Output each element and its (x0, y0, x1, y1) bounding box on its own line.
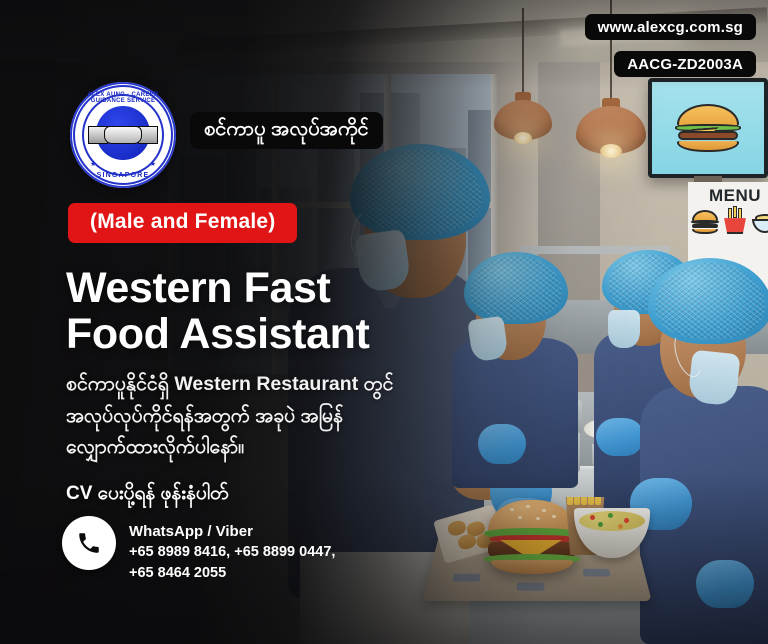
contact-numbers-line-2: +65 8464 2055 (129, 563, 335, 584)
contact-block[interactable]: WhatsApp / Viber +65 8989 8416, +65 8899… (62, 516, 335, 583)
page-title: Western Fast Food Assistant (66, 265, 369, 358)
description-line-1: စင်ကာပူနိုင်ငံရှိ Western Restaurant တွင… (66, 369, 393, 401)
logo-text-top: ALEX AUNG · CAREER GUIDANCE SERVICE (70, 92, 176, 104)
description-burmese: စင်ကာပူနိုင်ငံရှိ Western Restaurant တွင… (66, 369, 393, 464)
company-logo: ALEX AUNG · CAREER GUIDANCE SERVICE ★ ★ … (70, 82, 176, 188)
header-burmese-badge: စင်ကာပူ အလုပ်အကိုင် (190, 112, 383, 149)
website-badge[interactable]: www.alexcg.com.sg (585, 14, 756, 40)
contact-numbers-line-1: +65 8989 8416, +65 8899 0447, (129, 542, 335, 563)
headline-line-1: Western Fast (66, 265, 369, 311)
recruitment-poster: MENU (0, 0, 768, 644)
poster-content: www.alexcg.com.sg AACG-ZD2003A ALEX AUNG… (0, 0, 768, 644)
contact-channel-label: WhatsApp / Viber (129, 521, 335, 542)
contact-details: WhatsApp / Viber +65 8989 8416, +65 8899… (129, 516, 335, 583)
handshake-icon (88, 122, 158, 148)
gender-badge: (Male and Female) (68, 203, 297, 243)
description-line-3: လျှောက်ထားလိုက်ပါနော်။ (66, 432, 393, 464)
description-line-2: အလုပ်လုပ်ကိုင်ရန်အတွက် အခုပဲ အမြန် (66, 401, 393, 433)
phone-icon[interactable] (62, 516, 116, 570)
logo-text-bottom: SINGAPORE (70, 172, 176, 179)
cv-instruction: CV ပေးပို့ရန် ဖုန်းနံပါတ် (66, 481, 228, 509)
job-code-badge: AACG-ZD2003A (614, 51, 756, 77)
headline-line-2: Food Assistant (66, 311, 369, 357)
